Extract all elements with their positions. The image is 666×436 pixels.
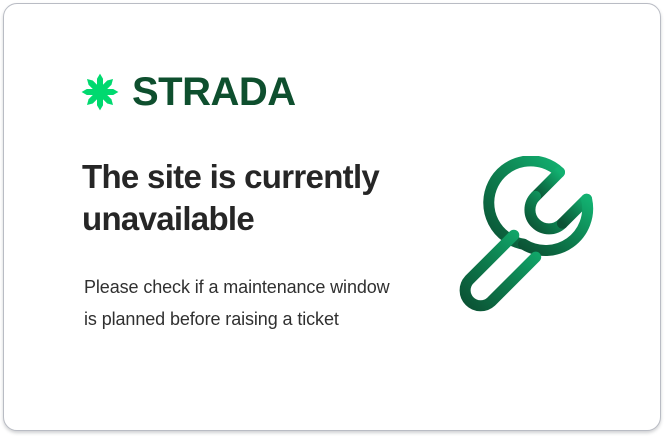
page-title: The site is currently unavailable — [82, 156, 412, 239]
wrench-icon — [456, 156, 616, 318]
brand-lockup: STRADA — [80, 72, 296, 112]
status-description: Please check if a maintenance window is … — [84, 272, 394, 335]
strada-asterisk-icon — [80, 72, 120, 112]
brand-wordmark: STRADA — [132, 72, 296, 112]
status-card: STRADA The site is currently unavailable… — [3, 3, 661, 431]
